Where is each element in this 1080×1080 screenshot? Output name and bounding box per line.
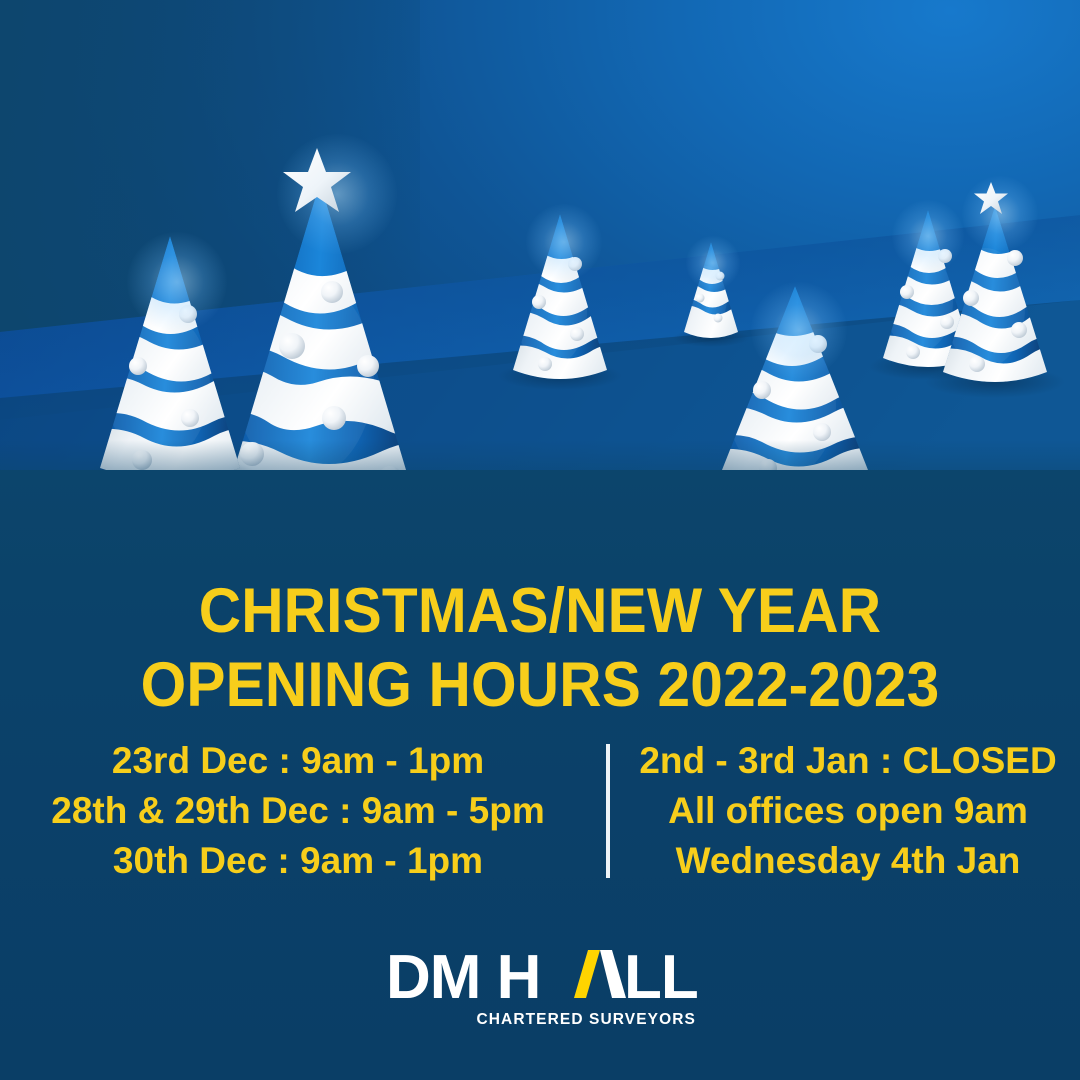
page-title: CHRISTMAS/NEW YEAR OPENING HOURS 2022-20…	[38, 574, 1042, 722]
hours-item: 2nd - 3rd Jan : CLOSED	[616, 736, 1080, 786]
hours-column-january: 2nd - 3rd Jan : CLOSED All offices open …	[616, 736, 1080, 886]
hours-column-december: 23rd Dec : 9am - 1pm 28th & 29th Dec : 9…	[0, 736, 596, 886]
headline-line-2: OPENING HOURS 2022-2023	[38, 648, 1042, 722]
star-topper-large	[279, 144, 355, 220]
logo-tagline: CHARTERED SURVEYORS	[476, 1011, 696, 1028]
logo-mark: DM H LL CHARTERED SURVEYORS	[380, 938, 700, 1034]
christmas-tree-far-right	[928, 182, 1063, 422]
logo-text-primary: DM H	[386, 943, 540, 1012]
hours-item: 23rd Dec : 9am - 1pm	[0, 736, 596, 786]
hours-item: All offices open 9am	[616, 786, 1080, 836]
christmas-hours-poster: CHRISTMAS/NEW YEAR OPENING HOURS 2022-20…	[0, 0, 1080, 1080]
logo-a-yellow-stroke	[574, 950, 600, 998]
hours-item: Wednesday 4th Jan	[616, 836, 1080, 886]
star-topper-small	[972, 180, 1010, 218]
column-divider	[606, 744, 610, 878]
opening-hours-block: 23rd Dec : 9am - 1pm 28th & 29th Dec : 9…	[0, 736, 1080, 896]
dm-hall-logo: DM H LL CHARTERED SURVEYORS	[0, 938, 1080, 1039]
logo-text-secondary: LL	[624, 943, 698, 1012]
headline-line-1: CHRISTMAS/NEW YEAR	[38, 574, 1042, 648]
christmas-tree-center	[500, 200, 620, 410]
hours-item: 28th & 29th Dec : 9am - 5pm	[0, 786, 596, 836]
hours-item: 30th Dec : 9am - 1pm	[0, 836, 596, 886]
logo-a-white-stroke	[600, 950, 626, 998]
